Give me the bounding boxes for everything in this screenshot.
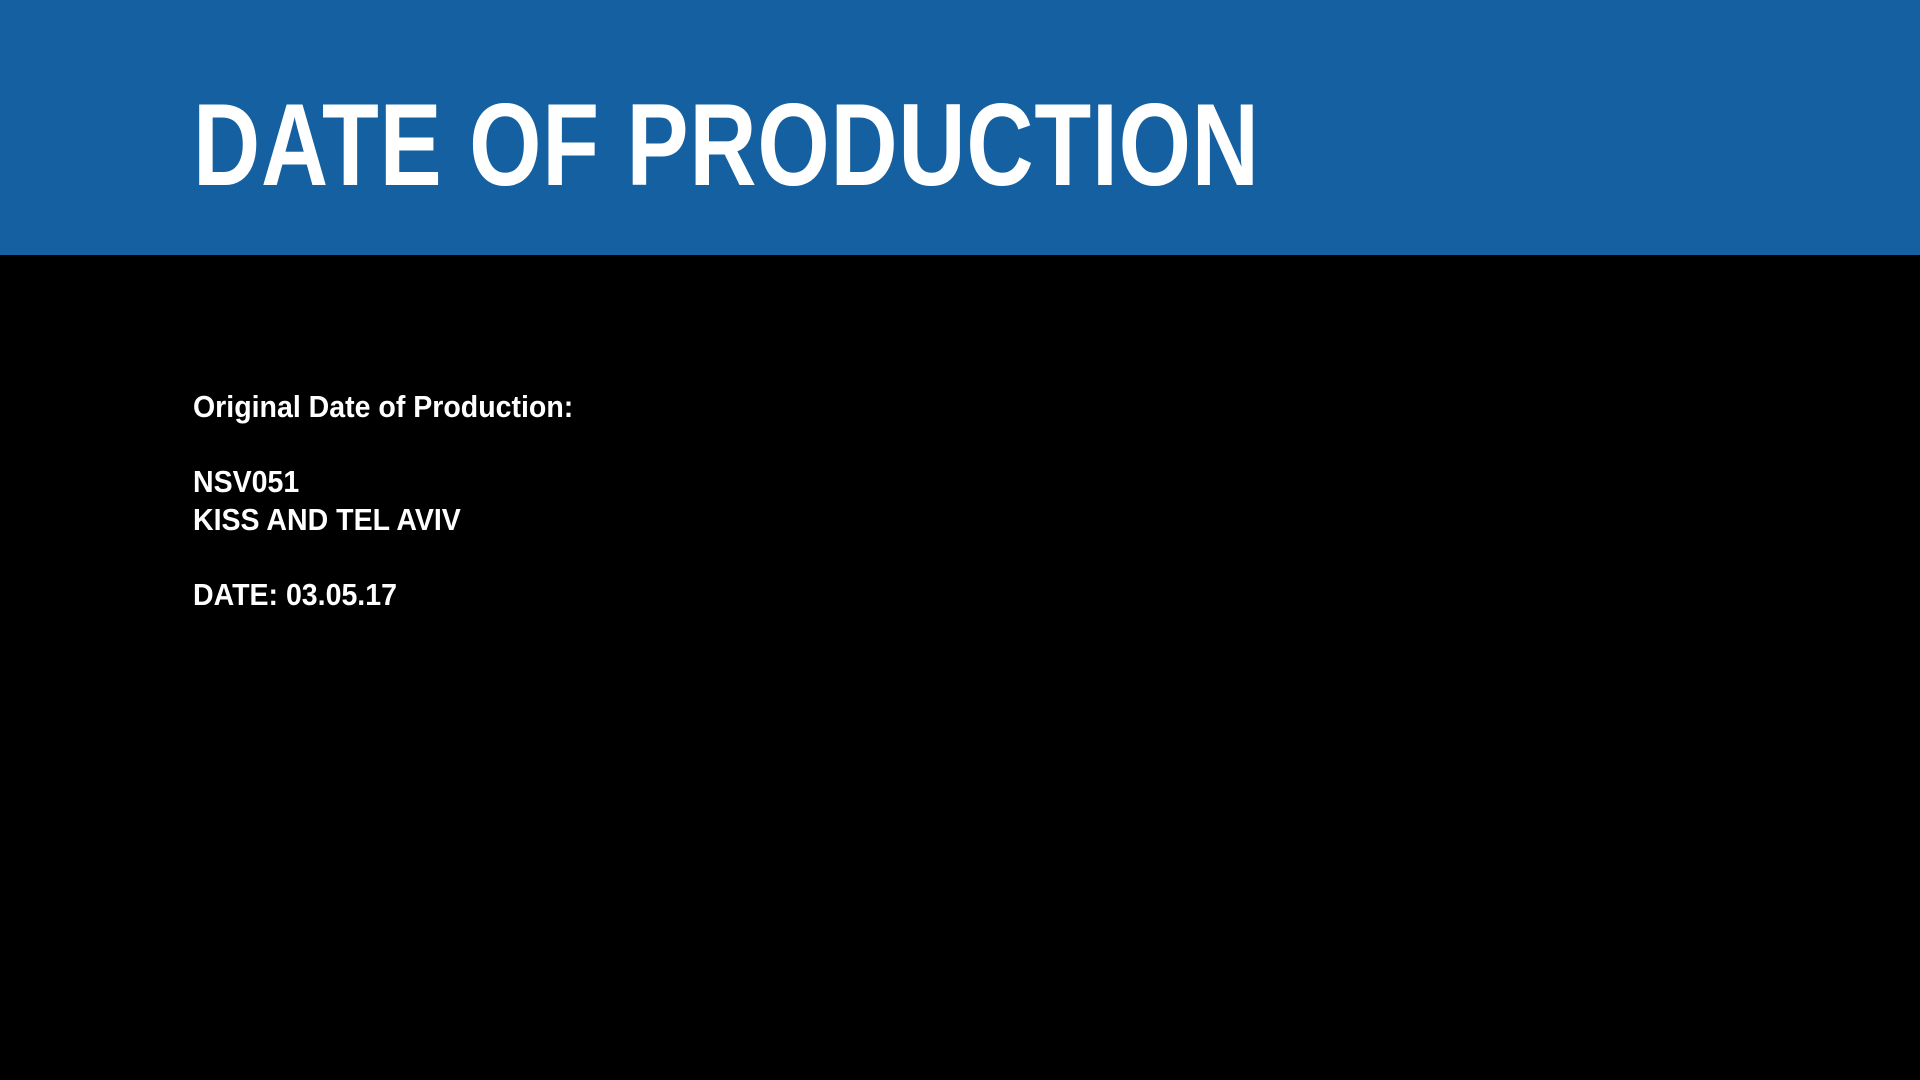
original-date-heading: Original Date of Production: (193, 388, 1573, 426)
text-spacer-2 (193, 539, 1693, 576)
body-text-block: Original Date of Production: NSV051 KISS… (193, 388, 1693, 614)
slide-canvas: DATE OF PRODUCTION Original Date of Prod… (0, 0, 1920, 1080)
program-title-line: KISS AND TEL AVIV (193, 501, 1573, 539)
production-date-line: DATE: 03.05.17 (193, 576, 1573, 614)
program-code-line: NSV051 (193, 463, 1573, 501)
page-title: DATE OF PRODUCTION (193, 86, 1465, 206)
text-spacer-1 (193, 426, 1693, 463)
title-banner: DATE OF PRODUCTION (0, 0, 1920, 255)
